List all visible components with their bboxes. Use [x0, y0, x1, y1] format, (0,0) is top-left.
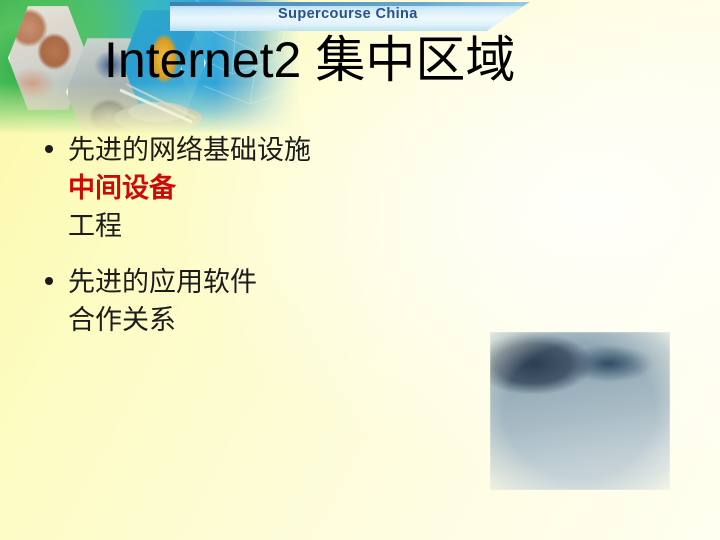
surgical-instruments-photo — [490, 332, 670, 490]
bullet-line: 工程 — [68, 208, 498, 246]
photo-base-tones — [490, 332, 670, 490]
presentation-slide: Supercourse China Internet2集中区域 先进的网络基础设… — [0, 0, 720, 540]
page-title-cjk: 集中区域 — [301, 31, 515, 89]
ribbon-title-text: Supercourse China — [278, 6, 418, 22]
supercourse-ribbon: Supercourse China — [170, 2, 530, 31]
list-item: 先进的网络基础设施 中间设备 工程 — [38, 132, 498, 246]
bullet-line-accent: 中间设备 — [68, 170, 498, 208]
page-title-latin: Internet2 — [104, 32, 301, 88]
page-title: Internet2集中区域 — [104, 34, 515, 86]
bullet-line: 先进的网络基础设施 — [68, 132, 498, 170]
bullet-dot-icon — [45, 277, 53, 285]
slide-body: 先进的网络基础设施 中间设备 工程 先进的应用软件 合作关系 — [38, 132, 498, 358]
bullet-line: 合作关系 — [68, 302, 498, 340]
bullet-dot-icon — [45, 145, 53, 153]
list-item: 先进的应用软件 合作关系 — [38, 264, 498, 340]
bullet-line: 先进的应用软件 — [68, 264, 498, 302]
